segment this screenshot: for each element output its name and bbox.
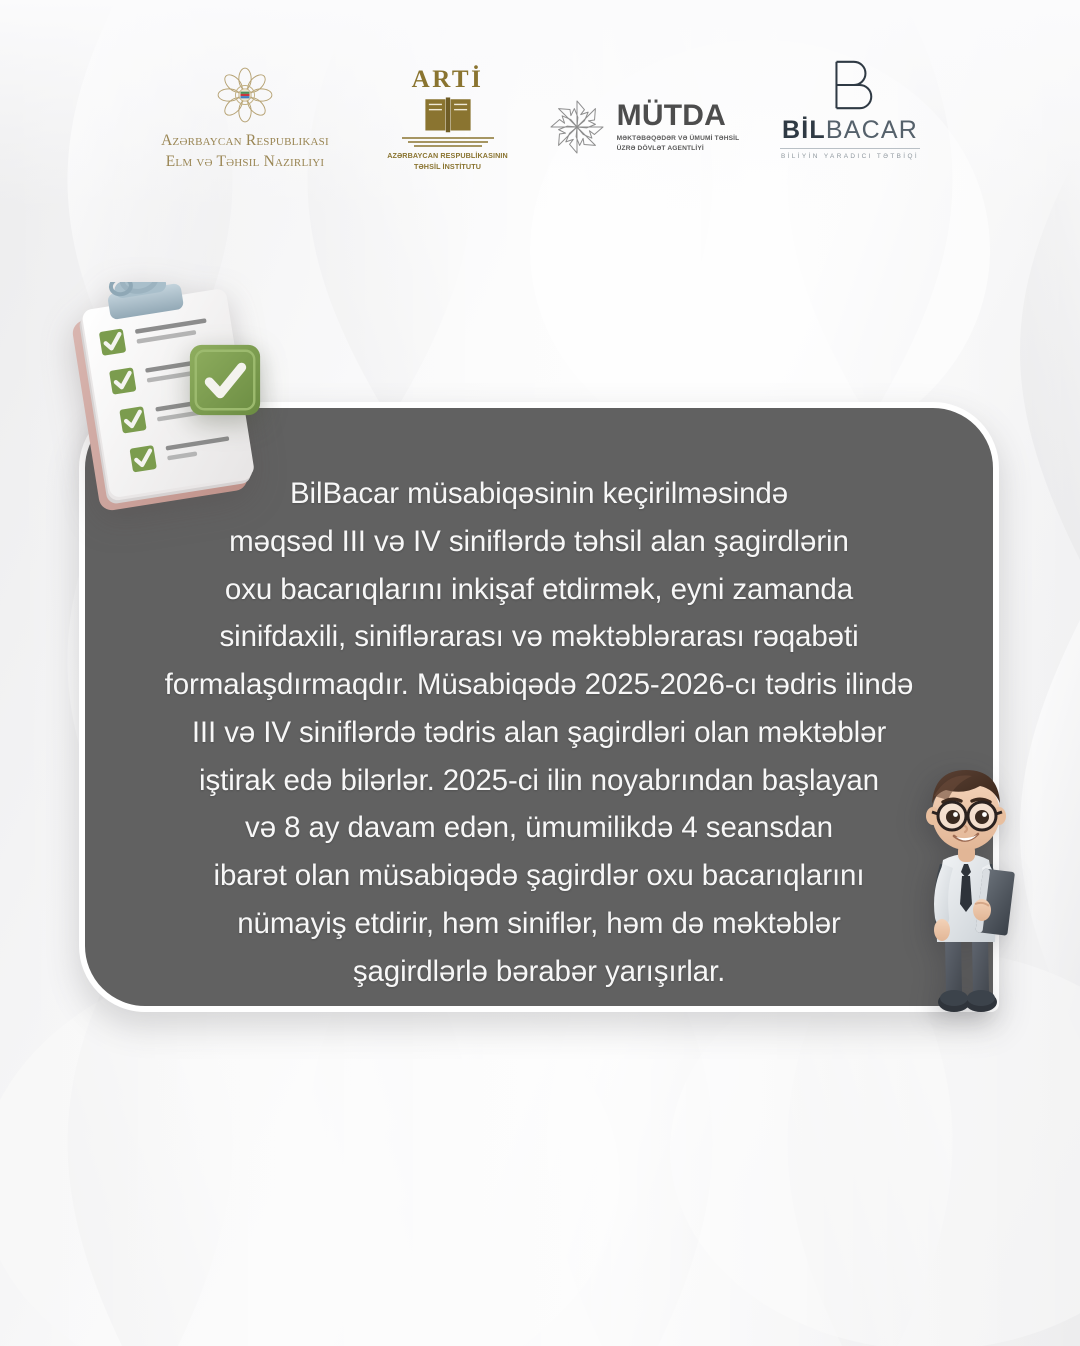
green-checkmark-badge (186, 341, 264, 419)
logo-arti: ARTİ AZƏRBAYCAN RESPUBLİKASININ TƏHSİL İ… (360, 67, 535, 172)
logo-ministry-of-science-and-education: Azərbaycan Respublikası Elm və Təhsil Na… (130, 67, 360, 172)
arti-divider-rules-icon (398, 136, 498, 148)
logo-bilbacar: BİLBACAR BİLİYİN YARADICI TƏTBİQİ (750, 56, 950, 172)
logo-mutda-subtitle: MƏKTƏBƏQƏDƏR VƏ ÜMUMİ TƏHSİL ÜZRƏ DÖVLƏT… (617, 134, 740, 154)
letter-b-monogram-icon (821, 56, 879, 114)
logo-mutda-wordmark: MÜTDA (617, 101, 726, 131)
logo-bilbacar-tagline: BİLİYİN YARADICI TƏTBİQİ (781, 153, 919, 160)
logo-arti-wordmark: ARTİ (412, 67, 484, 92)
schoolboy-mascot-illustration (898, 752, 1034, 1028)
partner-logo-strip: Azərbaycan Respublikası Elm və Təhsil Na… (0, 62, 1080, 172)
logo-arti-subtitle: AZƏRBAYCAN RESPUBLİKASININ TƏHSİL İNSTİT… (387, 151, 508, 172)
logo-ministry-label: Azərbaycan Respublikası Elm və Təhsil Na… (161, 131, 329, 172)
open-book-icon (421, 94, 475, 134)
azerbaijan-rosette-emblem-icon (217, 67, 273, 123)
poster-canvas: Azərbaycan Respublikası Elm və Təhsil Na… (0, 0, 1080, 1346)
logo-bilbacar-word-thin: BACAR (826, 116, 918, 144)
pinwheel-star-icon (546, 96, 608, 158)
logo-mutda: MÜTDA MƏKTƏBƏQƏDƏR VƏ ÜMUMİ TƏHSİL ÜZRƏ … (535, 96, 750, 172)
logo-bilbacar-wordmark: BİLBACAR (782, 118, 918, 143)
competition-description-text: BilBacar müsabiqəsinin keçirilməsində mə… (137, 470, 941, 996)
logo-bilbacar-word-bold: BİL (782, 116, 826, 144)
logo-bilbacar-divider (780, 148, 920, 149)
